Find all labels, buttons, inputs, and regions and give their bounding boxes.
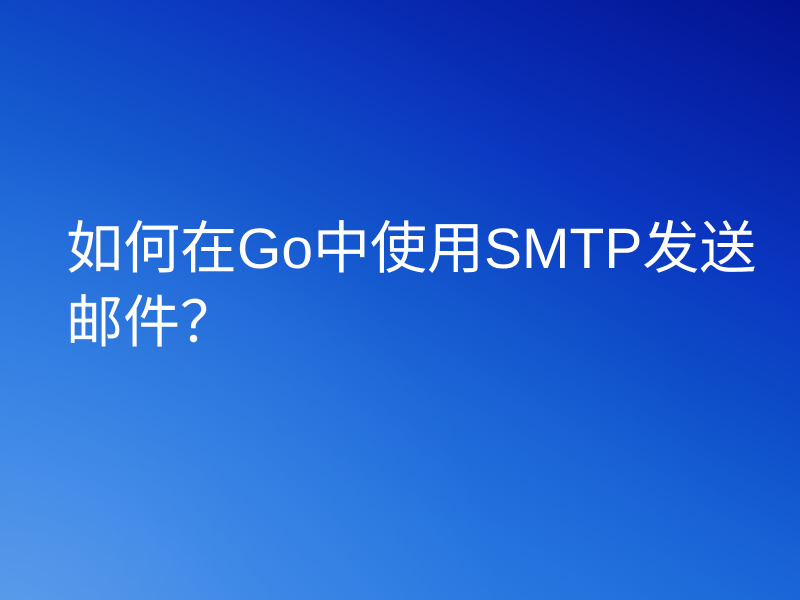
title-card-banner: 如何在Go中使用SMTP发送邮件？ (0, 0, 800, 600)
page-title: 如何在Go中使用SMTP发送邮件？ (66, 212, 766, 360)
headline-container: 如何在Go中使用SMTP发送邮件？ (66, 212, 766, 360)
